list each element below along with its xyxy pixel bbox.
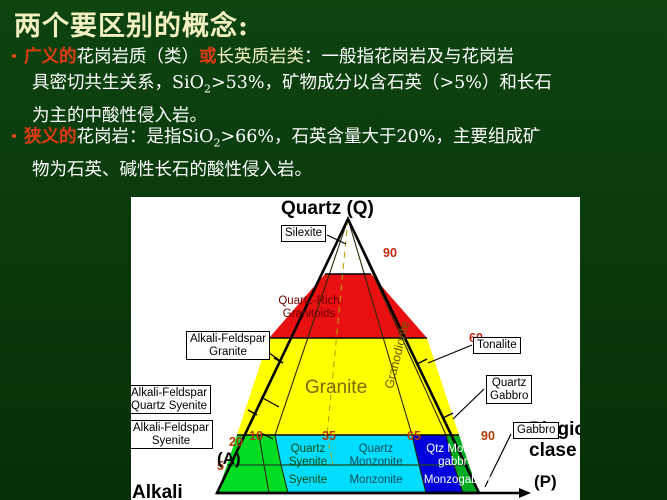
tick-label-quartz-20: 20	[229, 435, 243, 449]
bullet-2-text-1: 花岗岩	[77, 127, 130, 147]
callout-alkali-feldspar-granite: Alkali-FeldsparGranite	[186, 331, 270, 360]
bullet-1-line-2: 具密切共生关系，SiO2>53%，矿物成分以含石英（>5%）和长石	[32, 70, 662, 103]
bullet-2-text-3: >66%，石英含量大于20%，主要组成矿	[220, 127, 540, 147]
tick-label-quartz-90: 90	[383, 246, 397, 260]
tick-label-plag-90: 90	[481, 429, 495, 443]
tick-label-plag-35: 35	[322, 429, 336, 443]
slide-root: 两个要区别的概念: 广义的花岗岩质（类）或长英质岩类：一般指花岗岩及与花岗岩 具…	[0, 0, 667, 500]
bullet-item-1: 广义的花岗岩质（类）或长英质岩类：一般指花岗岩及与花岗岩 具密切共生关系，SiO…	[10, 44, 662, 129]
tick-label-plag-65: 65	[407, 429, 421, 443]
tick-label-plag-10: 10	[249, 429, 263, 443]
diagram-apex-letter-p: (P)	[534, 472, 557, 492]
bullet-1-emphasis-2: 或	[199, 47, 217, 67]
field-label-monzogabbro: Monzogabbro	[405, 474, 513, 487]
callout-alkali-feldspar-syenite: Alkali-FeldsparSyenite	[131, 420, 213, 449]
field-label-quartz-rich-granitoids: Quartz-RichGranitoids	[259, 295, 359, 320]
callout-tonalite: Tonalite	[473, 337, 521, 354]
diagram-apex-label-quartz: Quartz (Q)	[281, 198, 374, 220]
bullet-marker-icon	[12, 134, 16, 138]
bullet-marker-icon	[12, 54, 16, 58]
bullet-item-2: 狭义的花岗岩：是指SiO2>66%，石英含量大于20%，主要组成矿 物为石英、碱…	[10, 124, 662, 183]
callout-quartz-gabbro: QuartzGabbro	[486, 375, 532, 404]
field-label-qtz-monzogabbro: Qtz Monzo-gabbro	[408, 443, 504, 468]
diagram-apex-label-alkali: Alkali	[132, 482, 183, 500]
bullet-1-text-1: 花岗岩质（类）	[77, 47, 200, 67]
bullet-1-line2-subscript: 2	[204, 83, 211, 96]
page-title: 两个要区别的概念:	[14, 4, 249, 43]
callout-alkali-feldspar-quartz-syenite: Alkali-FeldsparQuartz Syenite	[131, 385, 211, 414]
callout-gabbro: Gabbro	[513, 422, 559, 439]
bullet-2-emphasis-1: 狭义的	[24, 127, 77, 147]
qapf-diagram-panel: Quartz (Q) Alkali (A) Plagio-clase (P) S…	[131, 197, 580, 500]
bullet-1-line2-b: >53%，矿物成分以含石英（>5%）和长石	[211, 73, 552, 93]
field-label-granite: Granite	[276, 382, 396, 395]
bullet-2-line-2: 物为石英、碱性长石的酸性侵入岩。	[32, 157, 662, 183]
bullet-1-text-cream: 长英质岩类	[217, 47, 305, 67]
bullet-1-line2-a: 具密切共生关系，SiO	[32, 73, 204, 93]
bullet-2-text-2: ：是指SiO	[129, 127, 213, 147]
diagram-apex-letter-a: (A)	[217, 449, 241, 469]
bullet-1-emphasis-1: 广义的	[24, 47, 77, 67]
callout-silexite: Silexite	[281, 225, 326, 242]
bullet-1-text-2: ：一般指花岗岩及与花岗岩	[304, 47, 514, 67]
